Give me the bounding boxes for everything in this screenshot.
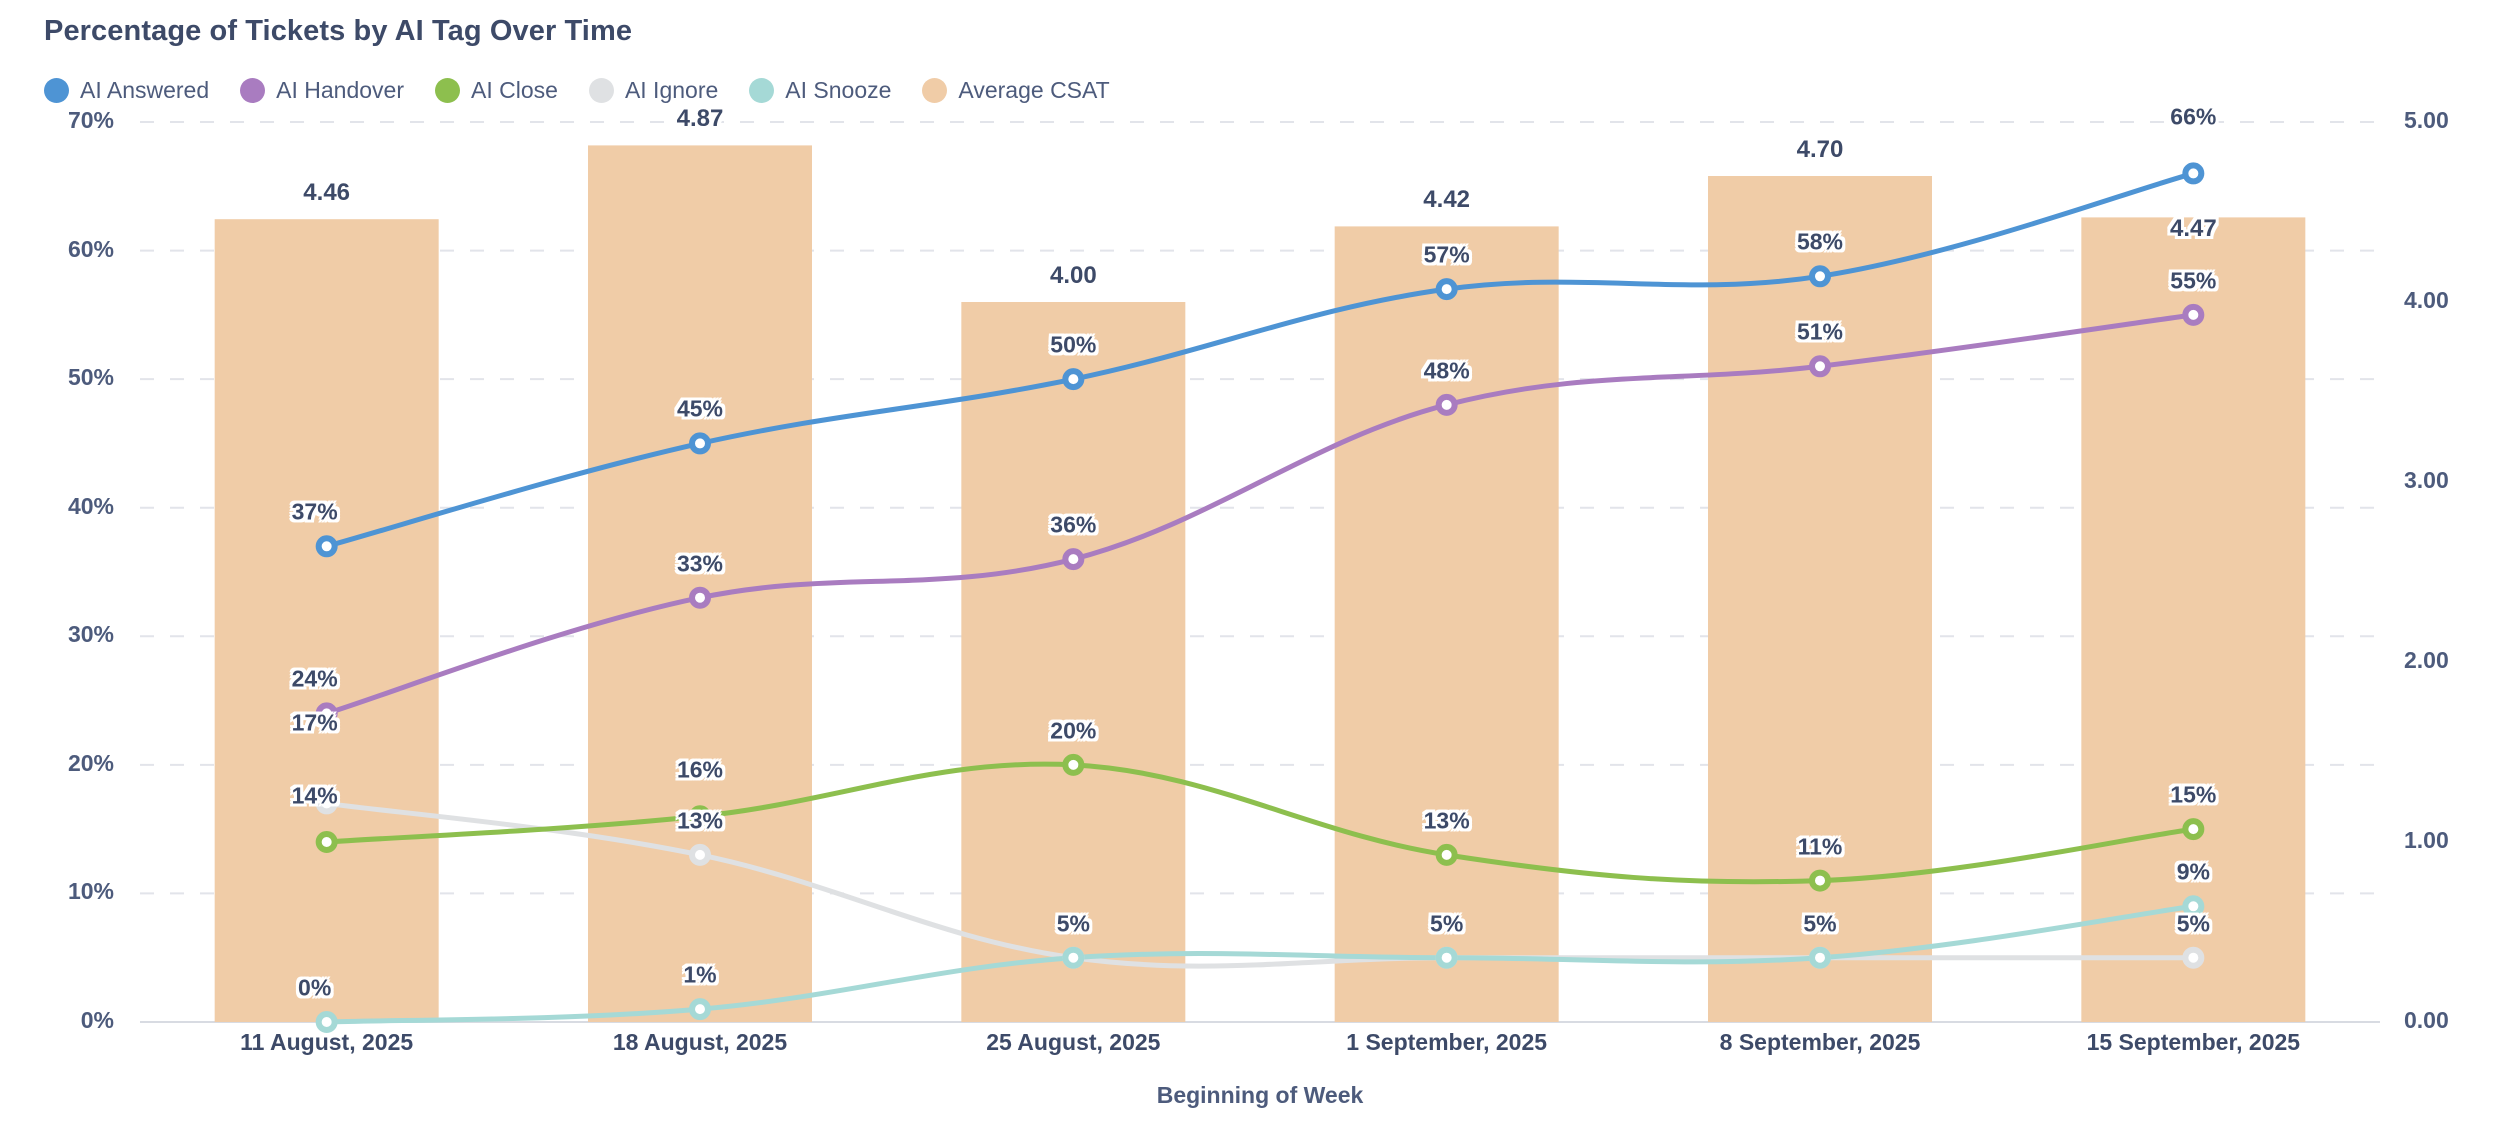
- point-value-label-ai-handover: 33%: [677, 550, 723, 577]
- data-point-ai-handover[interactable]: [1439, 397, 1455, 413]
- data-point-ai-close[interactable]: [1812, 873, 1828, 889]
- point-value-label-ai-close: 20%: [1050, 717, 1096, 744]
- bar-average-csat[interactable]: [215, 219, 439, 1022]
- x-axis-title: Beginning of Week: [1157, 1082, 1364, 1109]
- point-value-label-ai-answered: 66%: [2170, 104, 2216, 131]
- bar-value-label: 4.00: [1050, 262, 1097, 290]
- point-value-label-ai-close: 11%: [1798, 833, 1843, 860]
- data-point-ai-snooze[interactable]: [319, 1014, 335, 1030]
- x-axis-tick-label: 15 September, 2025: [2087, 1029, 2301, 1056]
- data-point-ai-snooze[interactable]: [1065, 950, 1081, 966]
- plot-area: 0%10%20%30%40%50%60%70%0.001.002.003.004…: [0, 0, 2512, 1138]
- bar-average-csat[interactable]: [588, 145, 812, 1022]
- data-point-ai-snooze[interactable]: [1439, 950, 1455, 966]
- data-point-ai-handover[interactable]: [2185, 307, 2201, 323]
- point-value-label-ai-snooze: 9%: [2177, 859, 2210, 886]
- bar-value-label: 4.42: [1423, 186, 1470, 214]
- x-axis-tick-label: 18 August, 2025: [613, 1029, 787, 1056]
- x-axis-tick-label: 8 September, 2025: [1720, 1029, 1921, 1056]
- point-value-label-ai-ignore: 17%: [292, 710, 338, 737]
- y-axis-right-tick: 0.00: [2404, 1007, 2449, 1034]
- data-point-ai-close[interactable]: [2185, 821, 2201, 837]
- y-axis-right-tick: 5.00: [2404, 107, 2449, 134]
- y-axis-left-tick: 50%: [24, 364, 114, 391]
- y-axis-right-tick: 1.00: [2404, 827, 2449, 854]
- bar-value-label: 4.87: [677, 105, 724, 133]
- bar-average-csat[interactable]: [1708, 176, 1932, 1022]
- y-axis-right-tick: 4.00: [2404, 287, 2449, 314]
- point-value-label-ai-ignore: 5%: [1803, 910, 1836, 937]
- bar-value-label: 4.47: [2170, 215, 2217, 243]
- chart-page: Percentage of Tickets by AI Tag Over Tim…: [0, 0, 2512, 1138]
- data-point-ai-close[interactable]: [1439, 847, 1455, 863]
- y-axis-left-tick: 60%: [24, 236, 114, 263]
- data-point-ai-answered[interactable]: [1812, 268, 1828, 284]
- data-point-ai-close[interactable]: [1065, 757, 1081, 773]
- point-value-label-ai-answered: 50%: [1050, 332, 1096, 359]
- data-point-ai-answered[interactable]: [2185, 165, 2201, 181]
- point-value-label-ai-snooze: 1%: [683, 962, 716, 989]
- point-value-label-ai-close: 13%: [1424, 807, 1470, 834]
- point-value-label-ai-snooze: 0%: [298, 975, 331, 1002]
- data-point-ai-handover[interactable]: [692, 590, 708, 606]
- y-axis-right-tick: 2.00: [2404, 647, 2449, 674]
- data-point-ai-answered[interactable]: [1065, 371, 1081, 387]
- point-value-label-ai-ignore: 5%: [1057, 910, 1090, 937]
- data-point-ai-ignore[interactable]: [2185, 950, 2201, 966]
- x-axis-tick-label: 1 September, 2025: [1346, 1029, 1547, 1056]
- point-value-label-ai-ignore: 13%: [677, 807, 723, 834]
- point-value-label-ai-answered: 45%: [677, 396, 723, 423]
- y-axis-right-tick: 3.00: [2404, 467, 2449, 494]
- y-axis-left-tick: 40%: [24, 493, 114, 520]
- point-value-label-ai-close: 14%: [292, 783, 338, 810]
- point-value-label-ai-handover: 55%: [2170, 267, 2216, 294]
- x-axis-tick-label: 25 August, 2025: [986, 1029, 1160, 1056]
- y-axis-left-tick: 30%: [24, 621, 114, 648]
- point-value-label-ai-answered: 58%: [1797, 229, 1843, 256]
- data-point-ai-snooze[interactable]: [1812, 950, 1828, 966]
- data-point-ai-handover[interactable]: [1812, 358, 1828, 374]
- point-value-label-ai-handover: 24%: [292, 666, 338, 693]
- point-value-label-ai-handover: 48%: [1424, 357, 1470, 384]
- y-axis-left-tick: 10%: [24, 878, 114, 905]
- data-point-ai-close[interactable]: [319, 834, 335, 850]
- x-axis-tick-label: 11 August, 2025: [240, 1029, 413, 1056]
- bar-value-label: 4.70: [1797, 136, 1844, 164]
- data-point-ai-answered[interactable]: [692, 435, 708, 451]
- bar-average-csat[interactable]: [1335, 226, 1559, 1022]
- point-value-label-ai-answered: 37%: [292, 499, 338, 526]
- bar-value-label: 4.46: [303, 179, 350, 207]
- point-value-label-ai-answered: 57%: [1424, 242, 1470, 269]
- data-point-ai-snooze[interactable]: [692, 1001, 708, 1017]
- plot-canvas: [0, 0, 2512, 1138]
- y-axis-left-tick: 0%: [24, 1007, 114, 1034]
- data-point-ai-ignore[interactable]: [692, 847, 708, 863]
- point-value-label-ai-close: 16%: [677, 757, 723, 784]
- point-value-label-ai-handover: 51%: [1797, 319, 1843, 346]
- data-point-ai-answered[interactable]: [1439, 281, 1455, 297]
- y-axis-left-tick: 20%: [24, 750, 114, 777]
- point-value-label-ai-ignore: 5%: [2177, 910, 2210, 937]
- point-value-label-ai-ignore: 5%: [1430, 910, 1463, 937]
- data-point-ai-handover[interactable]: [1065, 551, 1081, 567]
- data-point-ai-answered[interactable]: [319, 538, 335, 554]
- y-axis-left-tick: 70%: [24, 107, 114, 134]
- point-value-label-ai-close: 15%: [2170, 782, 2216, 809]
- point-value-label-ai-handover: 36%: [1050, 512, 1096, 539]
